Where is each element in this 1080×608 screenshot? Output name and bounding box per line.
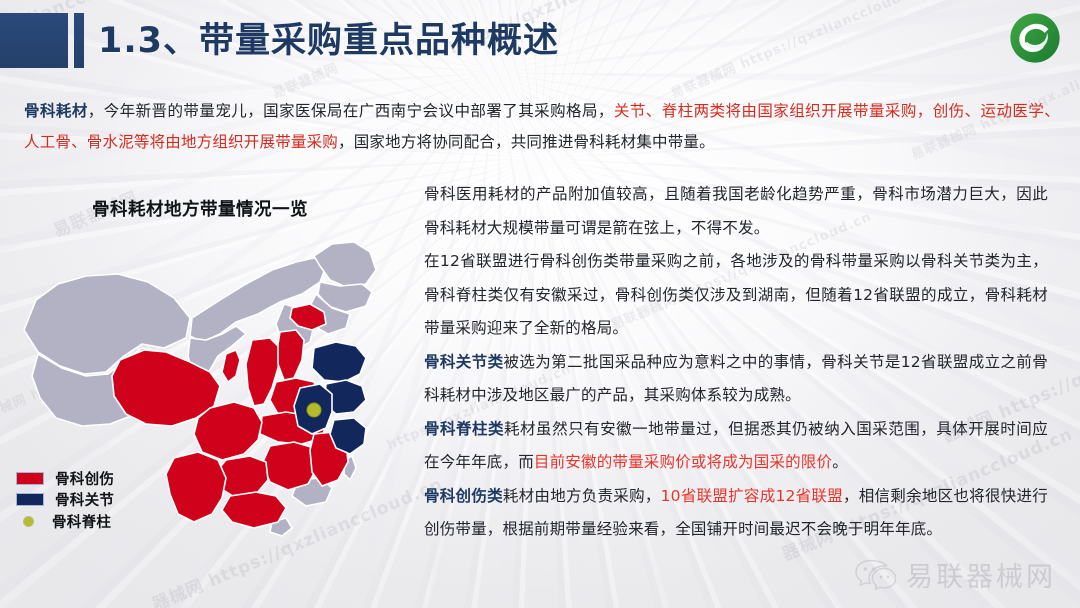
body-text-column: 骨科医用耗材的产品附加值较高，且随着我国老龄化趋势严重，骨科市场潜力巨大，因此骨… [424, 178, 1048, 547]
body-paragraph-4: 骨科脊柱类耗材虽然只有安徽一地带量过，但据悉其仍被纳入国采范围，具体开展时间应在… [424, 413, 1048, 480]
wechat-icon [854, 558, 896, 592]
body-p2-text: 在12省联盟进行骨科创伤类带量采购之前，各地涉及的骨科带量采购以骨科关节类为主，… [424, 252, 1048, 337]
province-ningxia-trauma [222, 350, 240, 382]
spine-marker-dot [307, 403, 321, 417]
footer-brand-text: 易联器械网 [906, 555, 1056, 594]
province-heilongjiang [314, 242, 376, 288]
legend-label-spine: 骨科脊柱 [52, 511, 111, 532]
body-paragraph-2: 在12省联盟进行骨科创伤类带量采购之前，各地涉及的骨科带量采购以骨科关节类为主，… [424, 245, 1048, 346]
intro-keyword: 骨科耗材 [24, 102, 88, 120]
body-p4-keyword: 骨科脊柱类 [424, 420, 504, 438]
body-paragraph-3: 骨科关节类被选为第二批国采品种应为意料之中的事情，骨科关节是12省联盟成立之前骨… [424, 346, 1048, 413]
body-p4-highlight: 目前安徽的带量采购价或将成为国采的限价 [534, 453, 832, 471]
page-title: 1.3、带量采购重点品种概述 [98, 14, 559, 68]
header-accent-bar [74, 13, 84, 68]
header-accent-block [0, 13, 68, 68]
legend-item-spine: 骨科脊柱 [16, 510, 216, 533]
body-p3-text: 被选为第二批国采品种应为意料之中的事情，骨科关节是12省联盟成立之前骨科耗材中涉… [424, 353, 1048, 405]
body-p1-text: 骨科医用耗材的产品附加值较高，且随着我国老龄化趋势严重，骨科市场潜力巨大，因此骨… [424, 185, 1048, 237]
intro-text-part2: ，国家地方将协同配合，共同推进骨科耗材集中带量。 [338, 133, 715, 151]
province-guangxi-trauma [222, 492, 286, 528]
legend-swatch-spine [24, 517, 33, 526]
map-title: 骨科耗材地方带量情况一览 [0, 196, 400, 221]
legend-item-trauma: 骨科创伤 [16, 468, 216, 488]
legend-label-trauma: 骨科创伤 [55, 468, 114, 489]
green-swirl-logo [1007, 10, 1063, 66]
body-paragraph-1: 骨科医用耗材的产品附加值较高，且随着我国老龄化趋势严重，骨科市场潜力巨大，因此骨… [424, 178, 1048, 245]
province-shandong-joint [312, 342, 366, 382]
province-shanxi-trauma [278, 330, 304, 380]
footer-brand: 易联器械网 [854, 555, 1056, 594]
legend-swatch-trauma [16, 472, 44, 485]
legend-label-joint: 骨科关节 [55, 489, 114, 510]
body-paragraph-5: 骨科创伤类耗材由地方负责采购，10省联盟扩容成12省联盟，相信剩余地区也将很快进… [424, 480, 1048, 547]
body-p4-text-b: 。 [832, 453, 848, 471]
legend-swatch-joint [16, 493, 44, 506]
body-p5-keyword: 骨科创伤类 [424, 487, 503, 505]
body-p3-keyword: 骨科关节类 [424, 353, 503, 371]
body-p5-highlight: 10省联盟扩容成12省联盟 [661, 487, 843, 505]
legend-item-joint: 骨科关节 [16, 489, 216, 509]
map-legend: 骨科创伤 骨科关节 骨科脊柱 [16, 468, 216, 534]
slide-header: 1.3、带量采购重点品种概述 [0, 0, 1080, 78]
intro-paragraph: 骨科耗材，今年新晋的带量宠儿，国家医保局在广西南宁会议中部署了其采购格局，关节、… [24, 96, 1060, 158]
body-p5-text-a: 耗材由地方负责采购， [503, 487, 661, 505]
slide-canvas: 易联器械网 https://qxzlianccloud.cn 易联器械网 htt… [0, 0, 1080, 608]
intro-text-part1: ，今年新晋的带量宠儿，国家医保局在广西南宁会议中部署了其采购格局， [88, 102, 614, 120]
